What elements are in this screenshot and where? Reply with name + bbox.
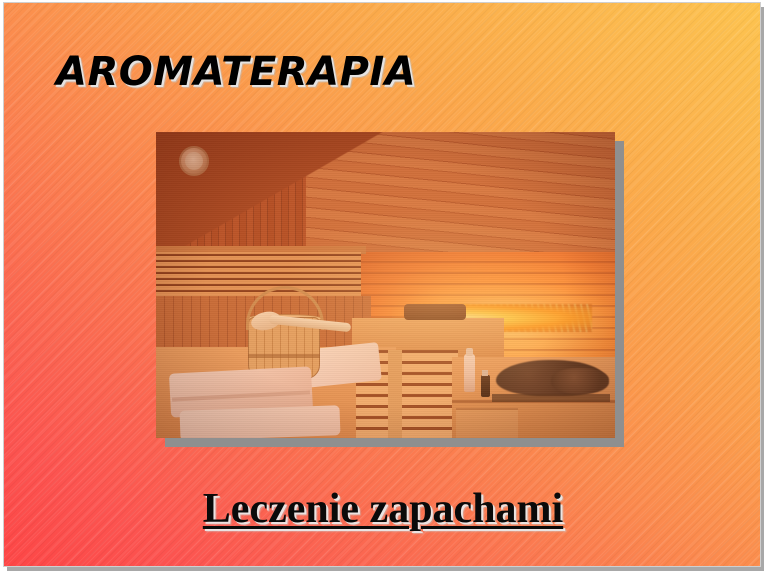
photo-grain-overlay (156, 132, 615, 438)
slide-subtitle-container: Leczenie zapachami (4, 485, 761, 533)
slide-subtitle: Leczenie zapachami (203, 486, 563, 532)
sauna-interior-photo (156, 132, 615, 438)
slide-canvas: AROMATERAPIA (3, 2, 761, 567)
presentation-slide-frame: AROMATERAPIA (0, 0, 768, 575)
slide-image-container (156, 132, 624, 447)
slide-title: AROMATERAPIA (56, 49, 416, 95)
